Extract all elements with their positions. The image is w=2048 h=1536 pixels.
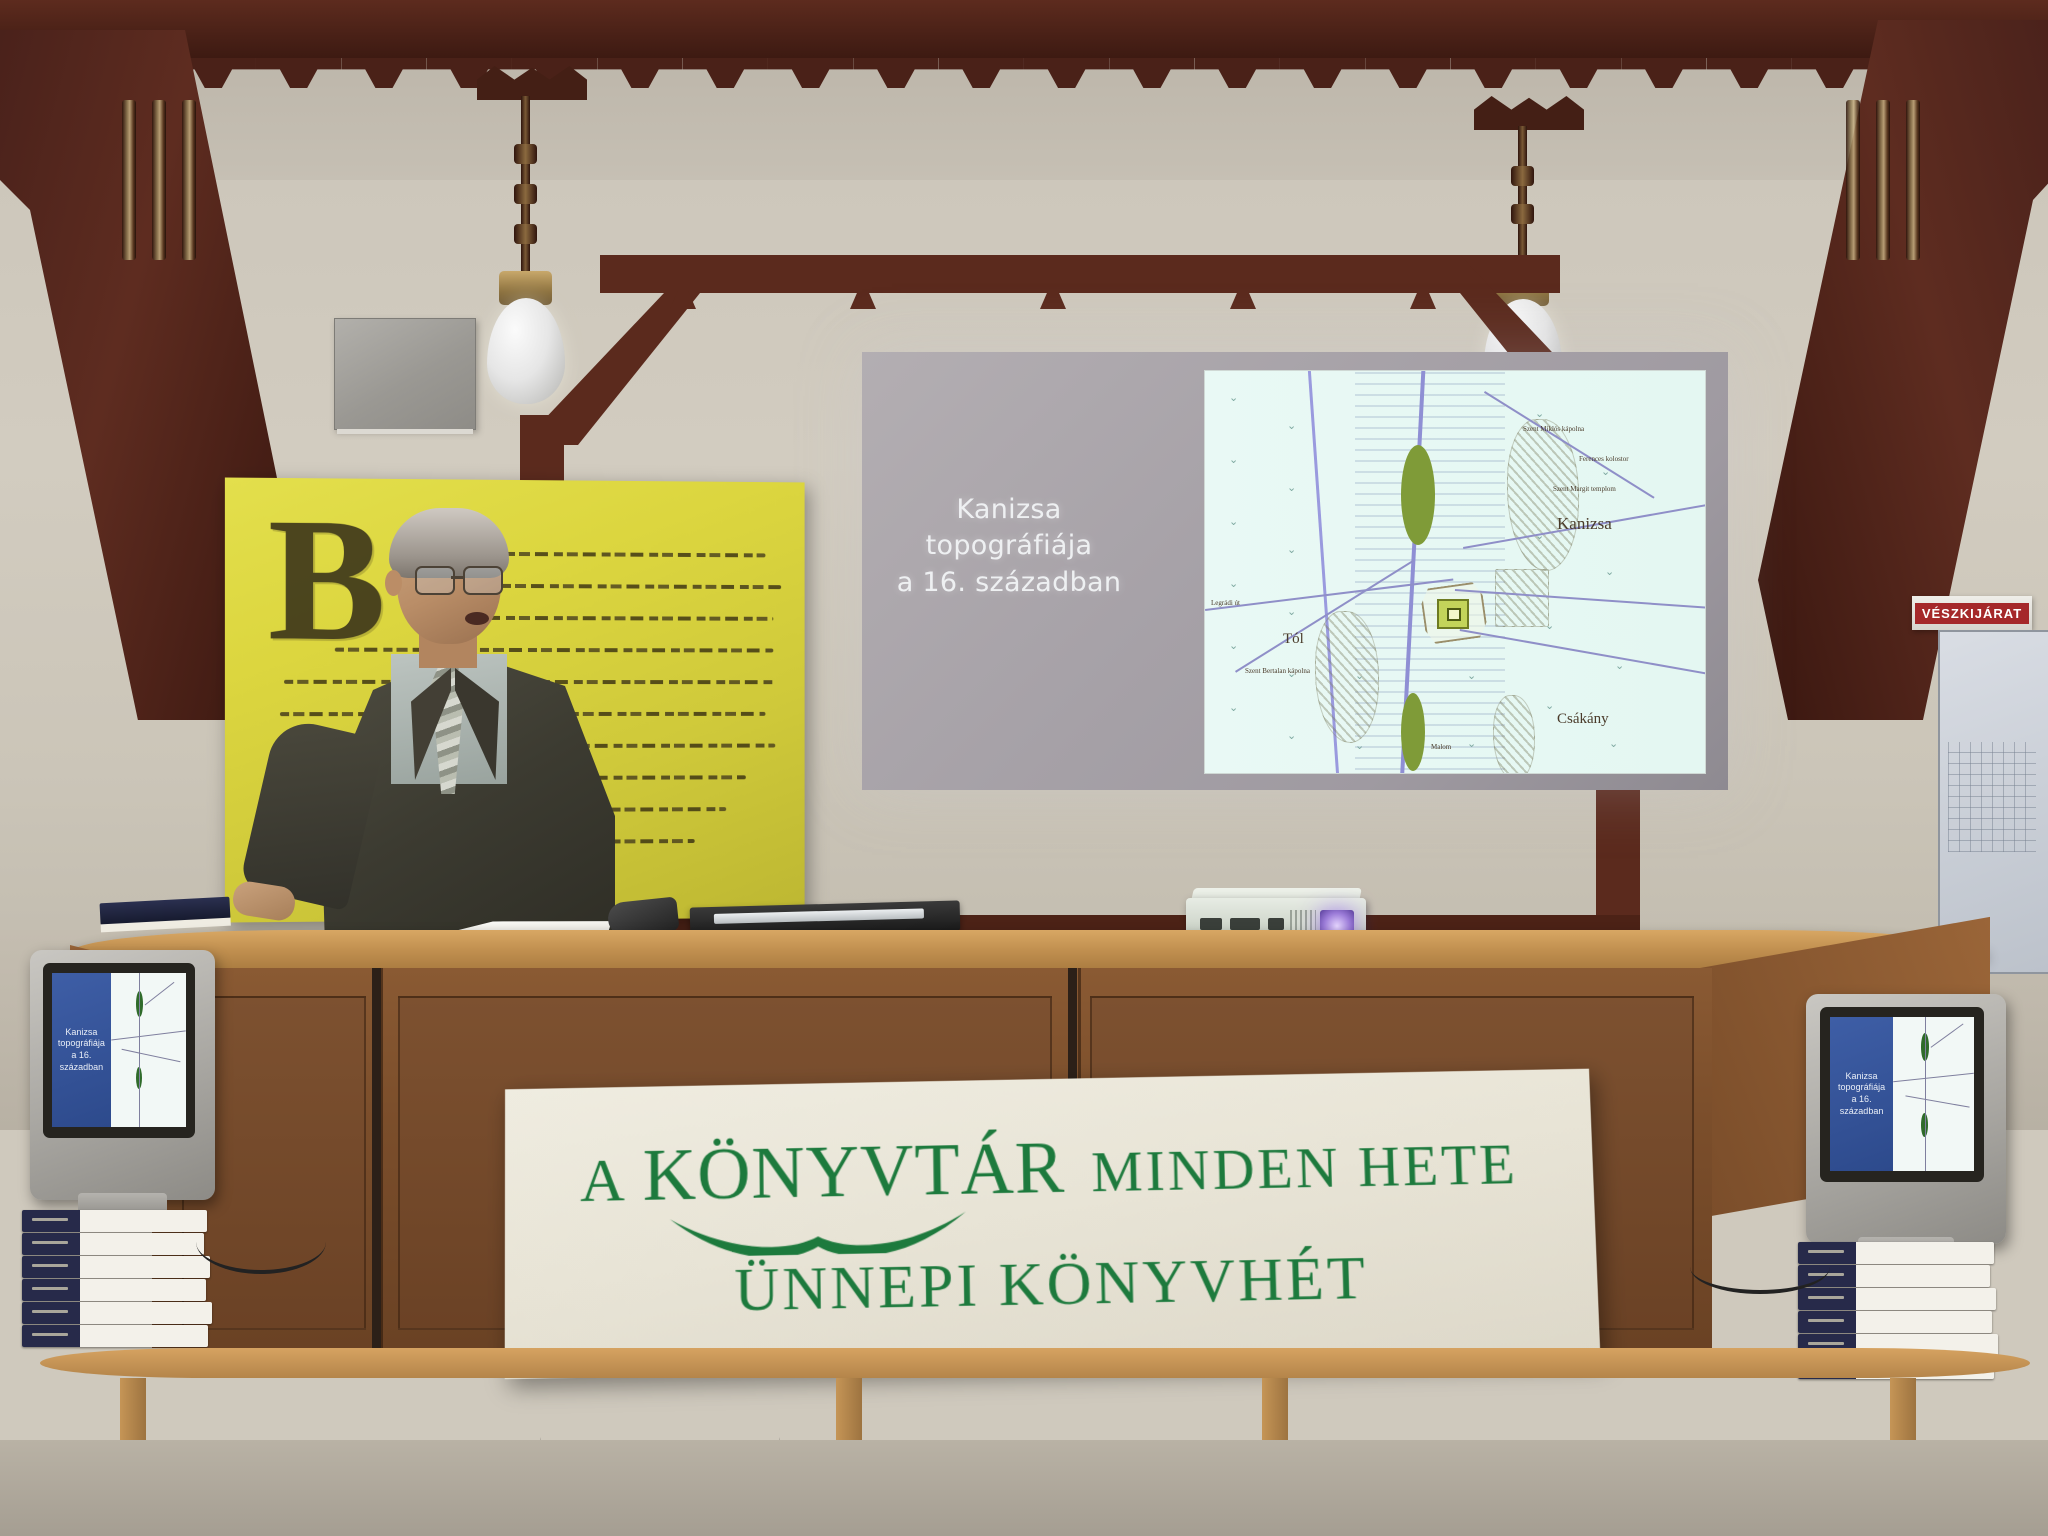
- balustrade-spindle: [182, 100, 196, 260]
- crt-monitor-right: Kanizsa topográfiája a 16. században: [1806, 994, 2006, 1244]
- monitor-screen: Kanizsa topográfiája a 16. században: [1830, 1017, 1974, 1171]
- balustrade-spindle: [1846, 100, 1860, 260]
- arch-notch: [1410, 291, 1436, 309]
- banner-brand-word: KÖNYVTÁR: [643, 1126, 1066, 1219]
- presenter-ear: [385, 570, 402, 596]
- slide-caption: Kanizsa topográfiája a 16. században: [884, 492, 1134, 601]
- balustrade-spindle: [1906, 100, 1920, 260]
- book: [22, 1279, 206, 1301]
- monitor-caption-panel: Kanizsa topográfiája a 16. században: [52, 973, 111, 1127]
- map-label-malom: Malom: [1431, 743, 1451, 751]
- open-book-swoosh-icon: [668, 1206, 969, 1258]
- projection-screen: Kanizsa topográfiája a 16. században: [862, 352, 1728, 790]
- slide-map-image: ⌄ ⌄ ⌄ ⌄ ⌄ ⌄ ⌄ ⌄ ⌄ ⌄ ⌄ ⌄ ⌄ ⌄ ⌄ ⌄ ⌄ ⌄ ⌄ ⌄: [1204, 370, 1706, 774]
- projector-port: [1230, 918, 1260, 930]
- lamp-knob: [1511, 166, 1534, 186]
- arch-notch: [1040, 291, 1066, 309]
- floor-cable: [1690, 1240, 1830, 1294]
- arch-notch: [850, 291, 876, 309]
- event-banner: A KÖNYVTÁR MINDEN HETE ÜNNEPI KÖNYVHÉT: [505, 1069, 1601, 1379]
- floor: [0, 1440, 2048, 1536]
- balustrade-spindle: [122, 100, 136, 260]
- book: [22, 1256, 210, 1278]
- map-label-kanizsa: Kanizsa: [1557, 514, 1612, 534]
- monitor-map-panel: [111, 973, 186, 1127]
- monitor-caption-panel: Kanizsa topográfiája a 16. században: [1830, 1017, 1893, 1171]
- balustrade-spindle: [1876, 100, 1890, 260]
- beam-scallop-trim: [0, 58, 2048, 88]
- map-label-szent-miklos: Szent Miklós kápolna: [1523, 425, 1584, 433]
- book: [22, 1325, 208, 1347]
- balustrade-spindle: [152, 100, 166, 260]
- lamp-knob: [514, 224, 537, 244]
- book-stack-left: [22, 1210, 212, 1360]
- slide-caption-line2: a 16. században: [884, 565, 1134, 601]
- slide-caption-line1: Kanizsa topográfiája: [884, 492, 1134, 565]
- banner-rest-words: MINDEN HETE: [1090, 1130, 1519, 1205]
- monitor-screen: Kanizsa topográfiája a 16. században: [52, 973, 185, 1127]
- ceiling-beam: [0, 0, 2048, 58]
- book: [1798, 1288, 1996, 1310]
- monitor-map-panel: [1893, 1017, 1974, 1171]
- monitor-bezel: Kanizsa topográfiája a 16. században: [1820, 1007, 1984, 1182]
- lamp-knob: [1511, 204, 1534, 224]
- presenter-mouth: [465, 612, 489, 625]
- monitor-bezel: Kanizsa topográfiája a 16. században: [43, 963, 195, 1138]
- book: [22, 1210, 207, 1232]
- banner-line-2: ÜNNEPI KÖNYVHÉT: [734, 1243, 1369, 1326]
- book: [1798, 1311, 1992, 1333]
- ceiling-rose: [477, 66, 587, 100]
- emergency-exit-sign: VÉSZKIJÁRAT: [1912, 596, 2032, 630]
- lamp-rod: [1518, 126, 1527, 276]
- projector-port: [1200, 918, 1222, 930]
- map-label-tol: Tól: [1283, 631, 1304, 648]
- book: [22, 1233, 204, 1255]
- lecture-hall-photo: Kanizsa topográfiája a 16. században: [0, 0, 2048, 1536]
- lamp-knob: [514, 184, 537, 204]
- map-marsh-symbols: ⌄ ⌄ ⌄ ⌄ ⌄ ⌄ ⌄ ⌄ ⌄ ⌄ ⌄ ⌄ ⌄ ⌄ ⌄ ⌄ ⌄ ⌄ ⌄ ⌄: [1205, 371, 1705, 773]
- map-label-legradi-ut: Legrádi út: [1211, 599, 1240, 607]
- ceiling-rose: [1474, 96, 1584, 130]
- front-bench: [40, 1348, 2030, 1378]
- banner-article: A: [580, 1145, 627, 1217]
- crt-monitor-left: Kanizsa topográfiája a 16. században: [30, 950, 215, 1200]
- book: [22, 1302, 212, 1324]
- wall-speaker-left: [334, 318, 476, 430]
- monitor-caption: Kanizsa topográfiája a 16. században: [1830, 1071, 1893, 1118]
- map-label-csakany: Csákány: [1557, 711, 1609, 728]
- map-label-ferences: Ferences kolostor: [1579, 455, 1629, 463]
- lamp-knob: [514, 144, 537, 164]
- arch-notch: [1230, 291, 1256, 309]
- arch-top-rail: [600, 255, 1560, 293]
- floor-cable: [196, 1210, 326, 1274]
- monitor-caption: Kanizsa topográfiája a 16. században: [52, 1027, 111, 1074]
- podium-leg: [372, 968, 381, 1348]
- glasses-icon: [415, 566, 501, 593]
- map-label-szent-margit: Szent Margit templom: [1553, 485, 1616, 493]
- flipchart-grid: [1948, 742, 2036, 852]
- presenter: [315, 516, 635, 936]
- emergency-exit-label: VÉSZKIJÁRAT: [1915, 603, 2029, 624]
- projector-port: [1268, 918, 1284, 930]
- banner-line-1: A KÖNYVTÁR MINDEN HETE: [580, 1118, 1519, 1220]
- map-label-szent-bertalan: Szent Bertalan kápolna: [1245, 667, 1310, 675]
